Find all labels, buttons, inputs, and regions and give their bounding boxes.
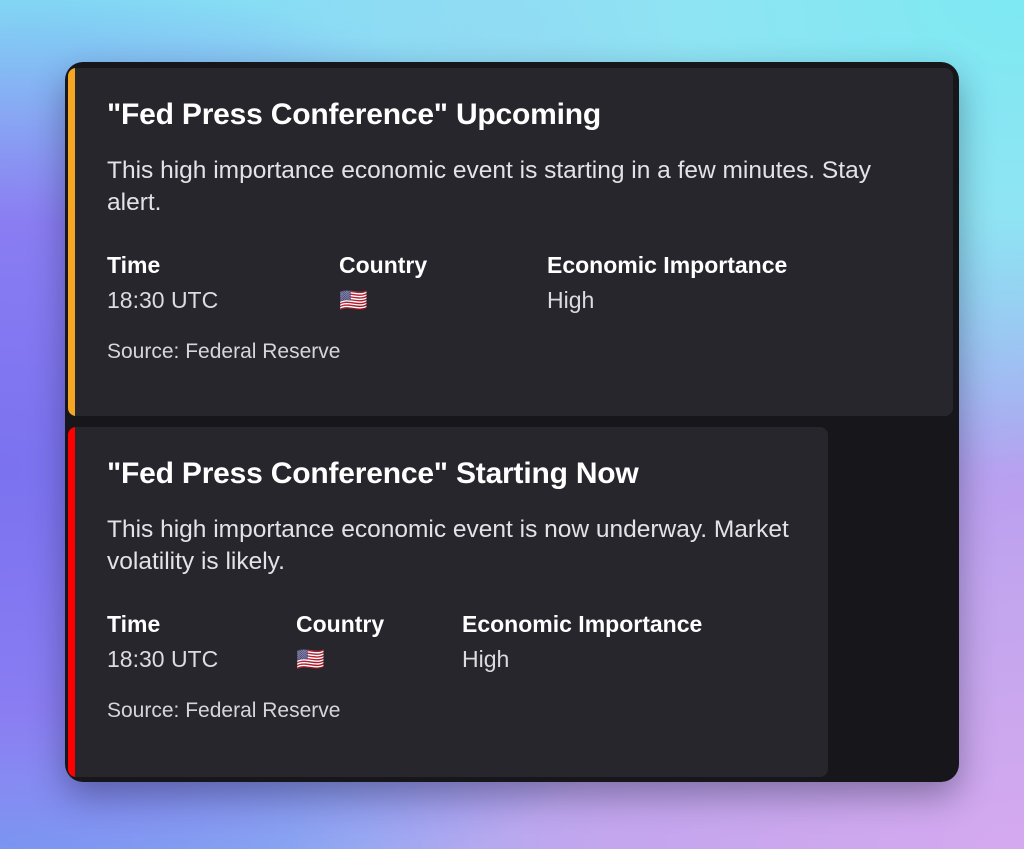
importance-value: High bbox=[462, 647, 702, 672]
accent-bar-orange bbox=[68, 68, 75, 416]
country-label: Country bbox=[339, 252, 547, 279]
card-body: "Fed Press Conference" Upcoming This hig… bbox=[75, 68, 953, 416]
importance-label: Economic Importance bbox=[547, 252, 787, 279]
detail-column-time: Time 18:30 UTC bbox=[107, 611, 296, 672]
time-label: Time bbox=[107, 252, 339, 279]
notification-card-starting-now[interactable]: "Fed Press Conference" Starting Now This… bbox=[68, 427, 828, 777]
time-label: Time bbox=[107, 611, 296, 638]
notification-list: "Fed Press Conference" Upcoming This hig… bbox=[68, 68, 956, 782]
detail-row: Time 18:30 UTC Country 🇺🇸 Economic Impor… bbox=[107, 611, 800, 672]
accent-bar-red bbox=[68, 427, 75, 777]
detail-row: Time 18:30 UTC Country 🇺🇸 Economic Impor… bbox=[107, 252, 925, 313]
card-body: "Fed Press Conference" Starting Now This… bbox=[75, 427, 828, 777]
us-flag-icon: 🇺🇸 bbox=[339, 288, 547, 313]
notification-card-upcoming[interactable]: "Fed Press Conference" Upcoming This hig… bbox=[68, 68, 953, 416]
notification-message: This high importance economic event is n… bbox=[107, 514, 800, 579]
notification-title: "Fed Press Conference" Starting Now bbox=[107, 457, 800, 491]
time-value: 18:30 UTC bbox=[107, 647, 296, 672]
notification-title: "Fed Press Conference" Upcoming bbox=[107, 98, 925, 132]
country-label: Country bbox=[296, 611, 462, 638]
time-value: 18:30 UTC bbox=[107, 288, 339, 313]
notification-source: Source: Federal Reserve bbox=[107, 340, 925, 364]
detail-column-country: Country 🇺🇸 bbox=[339, 252, 547, 313]
importance-label: Economic Importance bbox=[462, 611, 702, 638]
notification-window: "Fed Press Conference" Upcoming This hig… bbox=[65, 62, 959, 782]
us-flag-icon: 🇺🇸 bbox=[296, 647, 462, 672]
notification-message: This high importance economic event is s… bbox=[107, 155, 925, 220]
detail-column-time: Time 18:30 UTC bbox=[107, 252, 339, 313]
detail-column-importance: Economic Importance High bbox=[547, 252, 787, 313]
importance-value: High bbox=[547, 288, 787, 313]
detail-column-importance: Economic Importance High bbox=[462, 611, 702, 672]
notification-source: Source: Federal Reserve bbox=[107, 699, 800, 723]
detail-column-country: Country 🇺🇸 bbox=[296, 611, 462, 672]
